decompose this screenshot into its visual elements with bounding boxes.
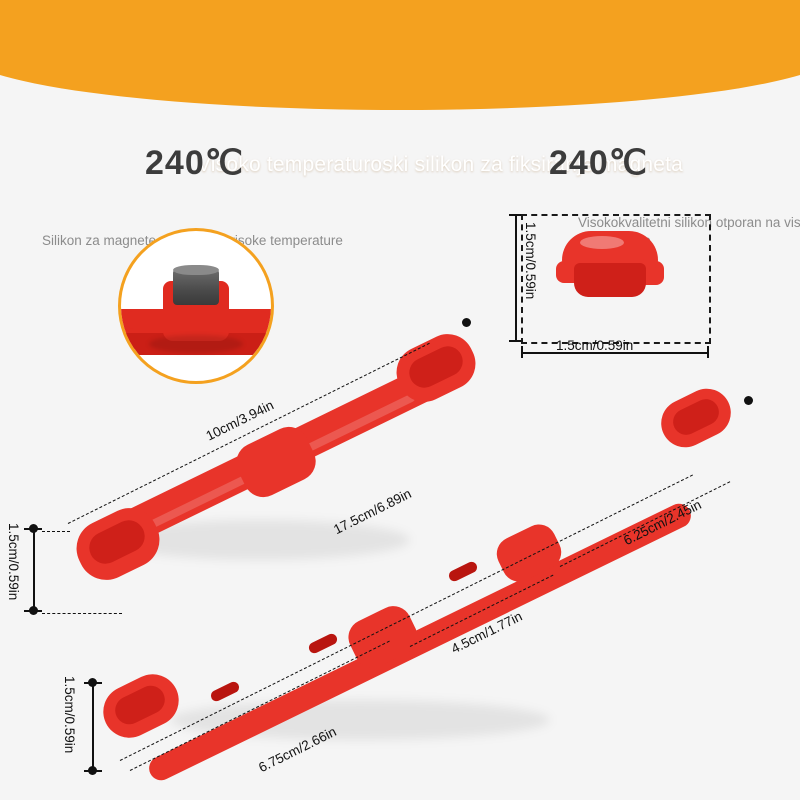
temperature-badge-left: 240℃ xyxy=(145,143,244,183)
strap-small-height-line xyxy=(33,528,35,610)
strap-large-height-tick-bottom xyxy=(84,770,102,772)
strap-large-dim-dot-top-right xyxy=(744,396,753,405)
strap-small-dim-dot-top xyxy=(462,318,471,327)
inset-strap-right xyxy=(223,311,267,329)
cap-height-label: 1.5cm/0.59in xyxy=(523,222,538,299)
strap-large-height-line xyxy=(92,682,94,770)
strap-large-hole-2 xyxy=(307,632,339,655)
product-image-canvas: Visoko temperaturoski silikon za fiksira… xyxy=(0,0,800,800)
header-banner xyxy=(0,0,800,110)
cap-width-tick-right xyxy=(707,346,709,358)
cap-base xyxy=(574,263,646,297)
magnet-top-face xyxy=(173,265,219,275)
strap-large-hole-1 xyxy=(447,560,479,583)
cap-height-tick-bottom xyxy=(509,340,521,342)
cap-width-label: 1.5cm/0.59in xyxy=(556,338,633,353)
cap-height-line xyxy=(515,214,517,340)
strap-small-ext-top xyxy=(42,531,70,532)
silicone-cap-product xyxy=(556,231,664,317)
header-banner-inner xyxy=(0,0,800,110)
strap-small-height-label: 1.5cm/0.59in xyxy=(6,523,21,600)
strap-large-height-label: 1.5cm/0.59in xyxy=(62,676,77,753)
strap-large-hole-3 xyxy=(209,680,241,703)
temperature-badge-right: 240℃ xyxy=(549,143,648,183)
cap-highlight xyxy=(580,236,624,249)
silicone-strap-large xyxy=(80,380,760,760)
caption-left: Silikon za magnete otporan na visoke tem… xyxy=(42,232,462,250)
